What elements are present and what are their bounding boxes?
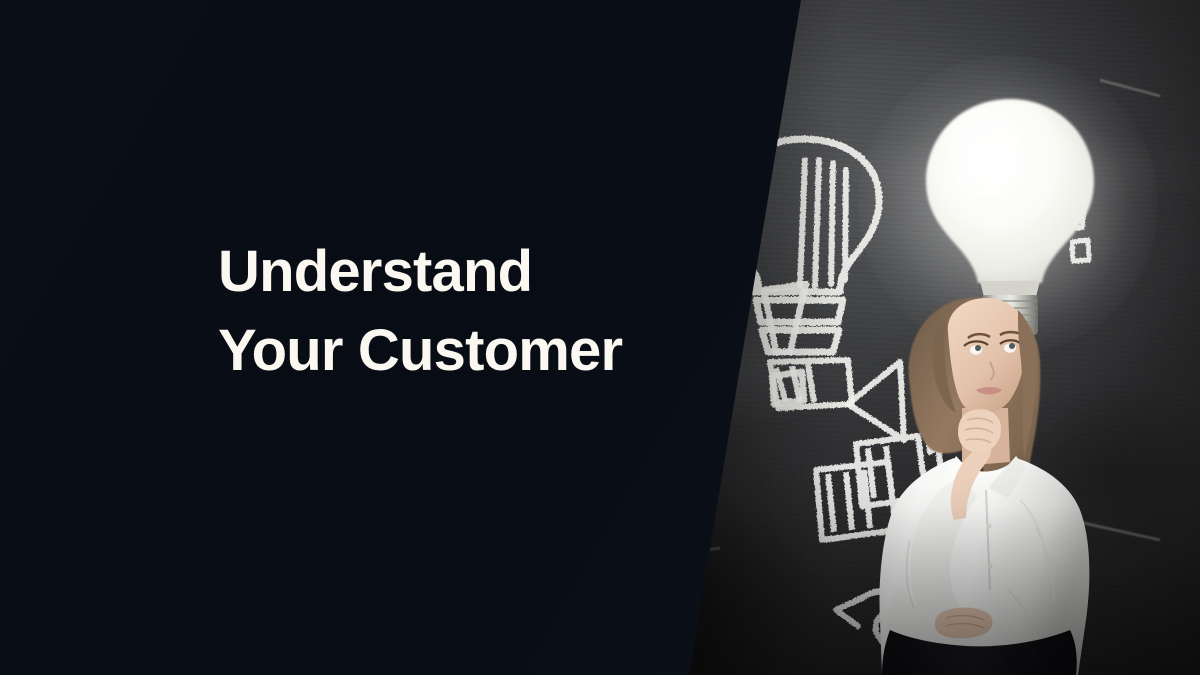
- slide-canvas: Understand Your Customer: [0, 0, 1200, 675]
- page-title: Understand Your Customer: [218, 232, 738, 390]
- title-line-2: Your Customer: [218, 311, 738, 390]
- title-line-1: Understand: [218, 232, 738, 311]
